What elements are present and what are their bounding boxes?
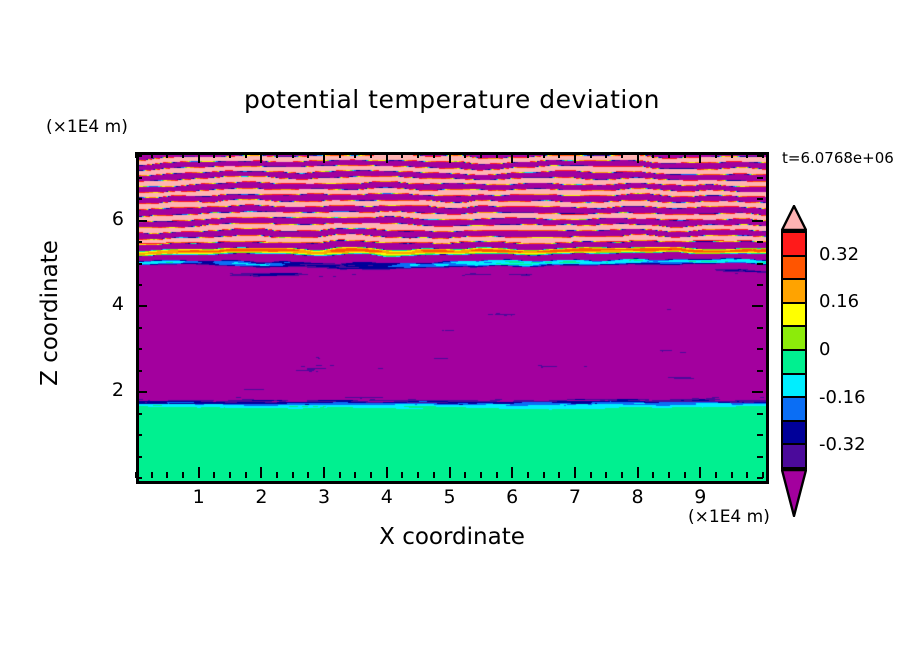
x-tick-top	[715, 152, 717, 158]
x-tick-top	[699, 152, 701, 163]
x-tick-bottom	[433, 472, 435, 478]
colorbar-band	[783, 327, 805, 351]
y-tick-left	[136, 391, 147, 393]
x-tick-top	[637, 152, 639, 163]
y-tick-right	[757, 198, 763, 200]
x-tick-bottom	[307, 472, 309, 478]
x-tick-top	[511, 152, 513, 163]
x-tick-top	[590, 152, 592, 158]
x-tick-label: 2	[241, 486, 281, 508]
x-axis-title: X coordinate	[0, 524, 904, 550]
y-tick-right	[757, 327, 763, 329]
colorbar-tick-label: -0.32	[819, 434, 866, 455]
x-tick-bottom	[182, 472, 184, 478]
x-tick-top	[496, 152, 498, 158]
y-tick-right	[757, 413, 763, 415]
x-tick-bottom	[605, 472, 607, 478]
y-tick-left	[136, 155, 142, 157]
x-tick-label: 9	[680, 486, 720, 508]
y-tick-left	[136, 305, 147, 307]
x-tick-bottom	[668, 472, 670, 478]
colorbar-band	[783, 257, 805, 281]
colorbar[interactable]	[781, 231, 807, 469]
x-tick-bottom	[417, 472, 419, 478]
y-tick-label: 2	[84, 379, 124, 401]
x-tick-label: 1	[179, 486, 219, 508]
x-tick-top	[229, 152, 231, 158]
x-tick-top	[574, 152, 576, 163]
x-tick-bottom	[370, 472, 372, 478]
colorbar-under-range-arrow	[781, 469, 807, 517]
y-tick-right	[752, 220, 763, 222]
y-tick-left	[136, 348, 142, 350]
x-tick-top	[198, 152, 200, 163]
x-tick-top	[464, 152, 466, 158]
x-tick-label: 8	[618, 486, 658, 508]
y-tick-right	[757, 456, 763, 458]
x-tick-bottom	[543, 472, 545, 478]
x-tick-top	[731, 152, 733, 158]
y-tick-left	[136, 413, 142, 415]
x-tick-top	[276, 152, 278, 158]
x-tick-bottom	[464, 472, 466, 478]
x-tick-bottom	[637, 467, 639, 478]
colorbar-band	[783, 304, 805, 328]
time-annotation: t=6.0768e+06	[782, 149, 894, 167]
y-tick-left	[136, 327, 142, 329]
x-tick-label: 4	[367, 486, 407, 508]
x-tick-top	[605, 152, 607, 158]
y-tick-right	[757, 477, 763, 479]
colorbar-band	[783, 233, 805, 257]
x-tick-bottom	[198, 467, 200, 478]
x-tick-bottom	[652, 472, 654, 478]
y-tick-label: 6	[84, 208, 124, 230]
y-tick-left	[136, 241, 142, 243]
colorbar-band	[783, 422, 805, 446]
colorbar-over-range-arrow	[781, 205, 807, 231]
x-tick-bottom	[401, 472, 403, 478]
x-tick-bottom	[715, 472, 717, 478]
x-tick-top	[260, 152, 262, 163]
x-tick-bottom	[699, 467, 701, 478]
x-tick-bottom	[323, 467, 325, 478]
x-tick-bottom	[480, 472, 482, 478]
x-tick-bottom	[746, 472, 748, 478]
y-tick-left	[136, 434, 142, 436]
x-tick-label: 3	[304, 486, 344, 508]
y-tick-left	[136, 456, 142, 458]
y-tick-right	[757, 348, 763, 350]
x-axis-unit-label: (×1E4 m)	[688, 507, 770, 527]
x-tick-bottom	[684, 472, 686, 478]
colorbar-band	[783, 375, 805, 399]
y-tick-left	[136, 220, 147, 222]
x-tick-bottom	[339, 472, 341, 478]
x-tick-bottom	[166, 472, 168, 478]
y-tick-left	[136, 477, 142, 479]
x-tick-bottom	[386, 467, 388, 478]
x-tick-label: 6	[492, 486, 532, 508]
y-tick-right	[757, 434, 763, 436]
x-tick-top	[652, 152, 654, 158]
x-tick-top	[668, 152, 670, 158]
x-tick-top	[746, 152, 748, 158]
y-tick-left	[136, 284, 142, 286]
x-tick-top	[182, 152, 184, 158]
x-tick-top	[354, 152, 356, 158]
temperature-field-canvas	[139, 155, 766, 481]
x-tick-top	[339, 152, 341, 158]
y-tick-right	[757, 155, 763, 157]
x-tick-bottom	[260, 467, 262, 478]
y-axis-title: Z coordinate	[37, 203, 63, 423]
x-tick-bottom	[354, 472, 356, 478]
x-tick-bottom	[558, 472, 560, 478]
x-tick-top	[245, 152, 247, 158]
x-tick-bottom	[511, 467, 513, 478]
x-tick-top	[323, 152, 325, 163]
y-tick-right	[752, 391, 763, 393]
x-tick-top	[307, 152, 309, 158]
x-tick-label: 5	[430, 486, 470, 508]
y-tick-right	[757, 177, 763, 179]
colorbar-band	[783, 445, 805, 467]
colorbar-tick-label: 0	[819, 339, 830, 360]
x-tick-bottom	[731, 472, 733, 478]
x-tick-top	[449, 152, 451, 163]
x-tick-bottom	[574, 467, 576, 478]
y-tick-left	[136, 370, 142, 372]
x-tick-top	[621, 152, 623, 158]
x-tick-top	[386, 152, 388, 163]
y-tick-right	[757, 370, 763, 372]
x-tick-bottom	[621, 472, 623, 478]
colorbar-band	[783, 351, 805, 375]
y-tick-label: 4	[84, 293, 124, 315]
x-tick-bottom	[213, 472, 215, 478]
x-tick-label: 7	[555, 486, 595, 508]
y-axis-unit-label: (×1E4 m)	[46, 117, 128, 137]
x-tick-top	[480, 152, 482, 158]
x-tick-top	[401, 152, 403, 158]
y-tick-left	[136, 198, 142, 200]
y-tick-left	[136, 263, 142, 265]
colorbar-tick-label: 0.16	[819, 291, 859, 312]
x-tick-bottom	[229, 472, 231, 478]
x-tick-top	[543, 152, 545, 158]
x-tick-top	[151, 152, 153, 158]
x-tick-top	[684, 152, 686, 158]
x-tick-top	[370, 152, 372, 158]
x-tick-bottom	[151, 472, 153, 478]
x-tick-bottom	[449, 467, 451, 478]
x-tick-bottom	[245, 472, 247, 478]
x-tick-bottom	[292, 472, 294, 478]
x-tick-top	[213, 152, 215, 158]
colorbar-tick-label: -0.16	[819, 387, 866, 408]
contour-plot-area	[136, 152, 769, 484]
x-tick-top	[433, 152, 435, 158]
y-tick-left	[136, 177, 142, 179]
x-tick-top	[527, 152, 529, 158]
x-tick-top	[558, 152, 560, 158]
colorbar-band	[783, 398, 805, 422]
y-tick-right	[757, 284, 763, 286]
x-tick-bottom	[496, 472, 498, 478]
y-tick-right	[757, 241, 763, 243]
colorbar-band	[783, 280, 805, 304]
colorbar-tick-label: 0.32	[819, 244, 859, 265]
x-tick-bottom	[276, 472, 278, 478]
x-tick-top	[166, 152, 168, 158]
page-title: potential temperature deviation	[0, 85, 904, 114]
y-tick-right	[752, 305, 763, 307]
x-tick-top	[417, 152, 419, 158]
x-tick-top	[292, 152, 294, 158]
y-tick-right	[757, 263, 763, 265]
x-tick-bottom	[590, 472, 592, 478]
x-tick-bottom	[527, 472, 529, 478]
